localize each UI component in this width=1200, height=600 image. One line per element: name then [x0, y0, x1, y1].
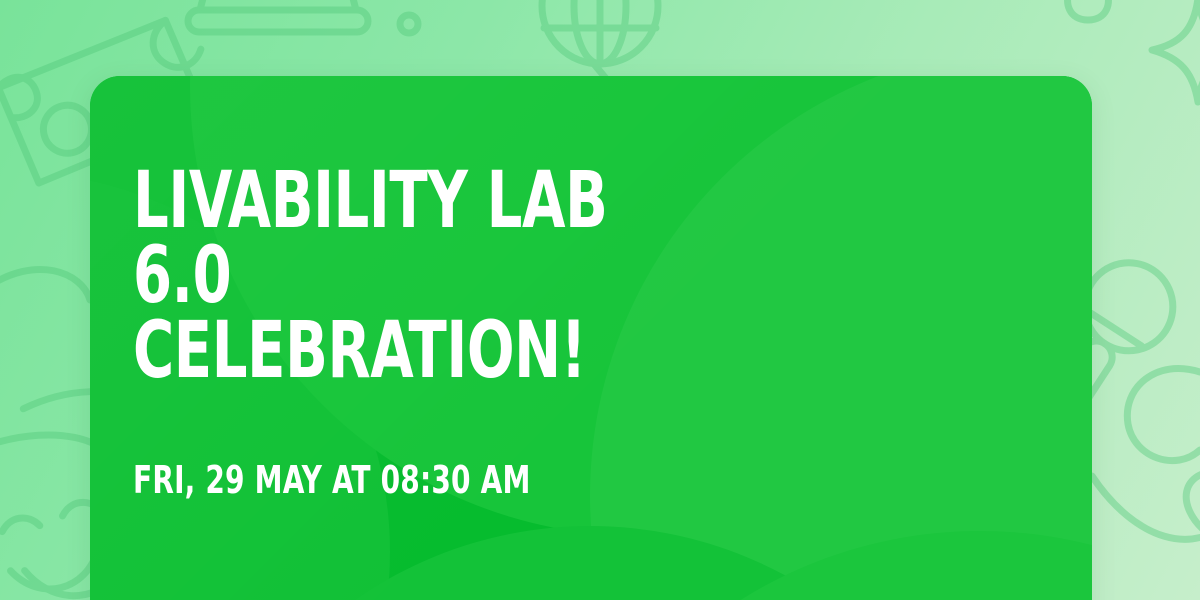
confetti-ring-icon [1127, 368, 1200, 460]
laptop-presentation-icon [188, 0, 368, 32]
circle-outline-icon [0, 269, 90, 300]
globe-icon [542, 0, 658, 64]
confetti-swirl-icon [1092, 473, 1200, 548]
card-text-block: Livability Lab 6.0 Celebration! Fri, 29 … [133, 164, 773, 499]
dot-icon [400, 15, 418, 33]
event-card[interactable]: Livability Lab 6.0 Celebration! Fri, 29 … [90, 76, 1092, 600]
sparkle-icon [1152, 0, 1200, 102]
balloon-icon [1064, 0, 1112, 20]
event-banner: Livability Lab 6.0 Celebration! Fri, 29 … [0, 0, 1200, 600]
event-datetime: Fri, 29 May at 08:30 AM [133, 461, 658, 499]
event-title: Livability Lab 6.0 Celebration! [133, 164, 645, 389]
